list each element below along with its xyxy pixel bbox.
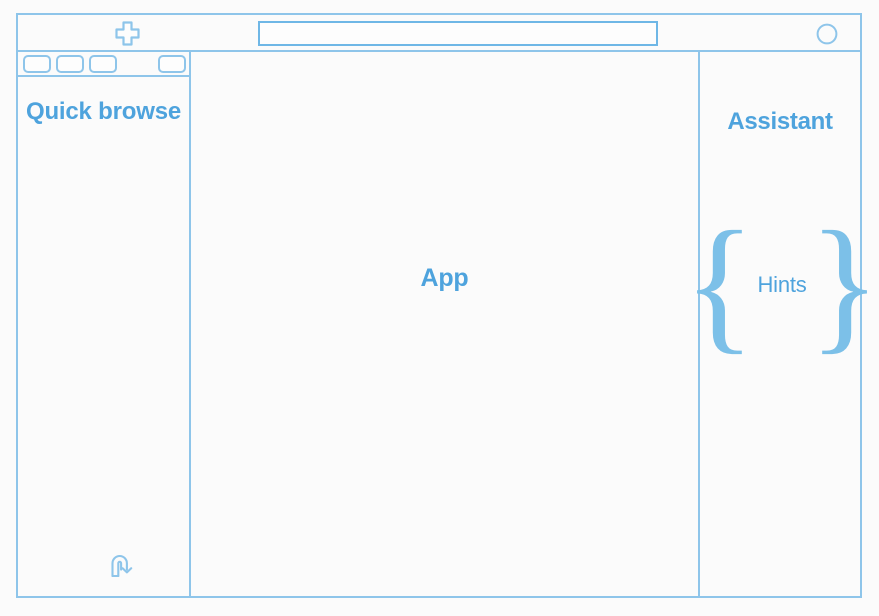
sidebar-item-tab-3[interactable]	[89, 55, 117, 73]
sidebar-tab-strip	[18, 52, 189, 77]
u-turn-back-arrow-icon[interactable]	[104, 549, 136, 581]
assistant-title: Assistant	[700, 108, 860, 136]
left-curly-brace-icon: {	[683, 226, 755, 343]
assistant-panel: Assistant { Hints }	[700, 52, 860, 596]
window-body: Quick browse App Assistant	[18, 52, 860, 596]
window-frame: Quick browse App Assistant	[16, 13, 862, 598]
sidebar-item-tab-1[interactable]	[23, 55, 51, 73]
sidebar-item-tab-4[interactable]	[158, 55, 186, 73]
wireframe-canvas: Quick browse App Assistant	[0, 0, 879, 616]
user-avatar-circle-icon[interactable]	[816, 23, 838, 45]
hints-label: Hints	[757, 272, 806, 298]
hints-block: { Hints }	[714, 212, 850, 357]
main-app-label: App	[191, 6, 698, 550]
sidebar-title: Quick browse	[18, 97, 189, 127]
sidebar-item-tab-2[interactable]	[56, 55, 84, 73]
main-app-panel: App	[191, 52, 700, 596]
plus-icon[interactable]	[114, 20, 141, 47]
right-curly-brace-icon: }	[809, 226, 879, 343]
sidebar-content-area	[18, 172, 189, 536]
sidebar-panel: Quick browse	[18, 52, 191, 596]
